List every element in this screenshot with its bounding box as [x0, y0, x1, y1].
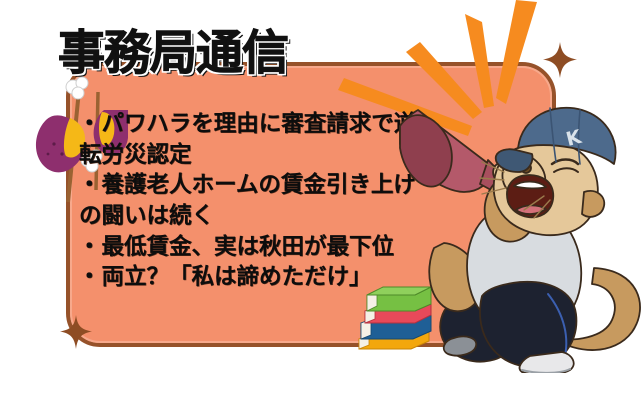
headline-text: 両立？「私は諦めただけ」 — [102, 264, 372, 290]
headline-item: ・最低賃金、実は秋田が最下位 — [78, 233, 438, 263]
headline-text: 養護老人ホームの賃金引き上げ — [102, 172, 416, 198]
page-title: 事務局通信 — [58, 30, 288, 77]
headline-bullet: ・ — [78, 111, 101, 137]
headline-text: の闘いは続く — [79, 203, 214, 229]
headline-item: ・養護老人ホームの賃金引き上げ — [78, 171, 438, 201]
headline-bullet: ・ — [78, 234, 101, 260]
headline-text: パワハラを理由に審査請求で逆 — [102, 111, 417, 137]
headline-item: ・パワハラを理由に審査請求で逆 — [78, 110, 438, 140]
headline-item: の闘いは続く — [78, 202, 438, 232]
headline-text: 転労災認定 — [79, 142, 192, 168]
headline-bullet: ・ — [78, 172, 101, 198]
headline-item: 転労災認定 — [78, 141, 438, 171]
headline-item: ・両立？「私は諦めただけ」 — [78, 263, 438, 293]
svg-text:K: K — [564, 126, 585, 151]
newsletter-poster: K 事務局通信 — [0, 0, 644, 404]
sparkle-star-icon — [543, 42, 577, 78]
headline-text: 最低賃金、実は秋田が最下位 — [102, 234, 395, 260]
headline-bullet: ・ — [78, 264, 101, 290]
headline-list: ・パワハラを理由に審査請求で逆 転労災認定 ・養護老人ホームの賃金引き上げ の闘… — [78, 110, 438, 294]
